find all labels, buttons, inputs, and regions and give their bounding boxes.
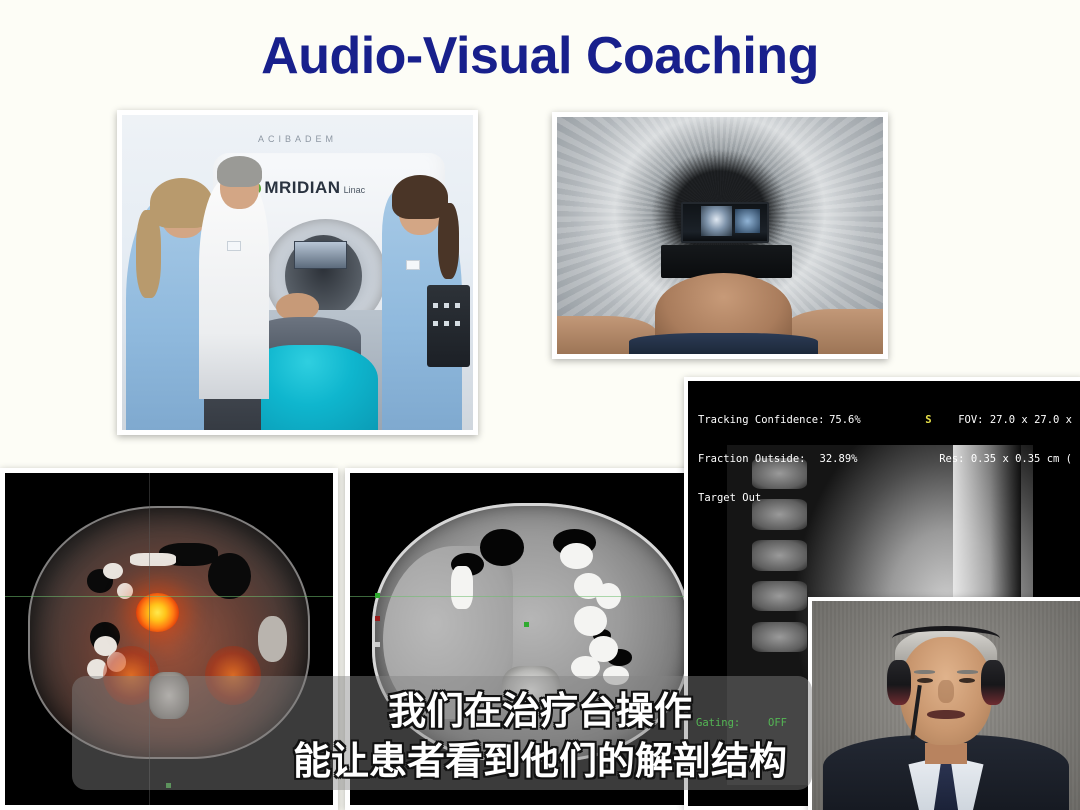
bowel-gas-1	[480, 529, 523, 566]
presentation-slide: Audio-Visual Coaching ACIBADEM MRIDIAN L…	[0, 0, 1080, 810]
nurse-right-id-badge	[406, 260, 420, 270]
speaker-eyebrow-right	[957, 670, 978, 674]
fov-label: FOV:	[958, 414, 983, 426]
tracking-osd-overlay: Tracking Confidence: 75.6% S FOV: 27.0 x…	[688, 381, 1080, 536]
tracking-confidence-label: Tracking Confidence:	[698, 414, 829, 427]
contrast-bowel-6	[130, 553, 176, 566]
contrast-loop-5	[574, 606, 607, 636]
in-bore-display-screen	[681, 202, 769, 242]
contrast-loop-2	[560, 543, 593, 570]
headphones-headband-icon	[892, 626, 999, 651]
hypermetabolic-lesion	[136, 593, 179, 633]
acibadem-wordmark: ACIBADEM	[122, 134, 473, 144]
mridian-brand-logo: MRIDIAN Linac	[248, 178, 365, 198]
res-label: Res:	[939, 453, 964, 465]
subtitle-line-1: 我们在治疗台操作	[0, 686, 1080, 736]
in-bore-patient-view-photo	[552, 112, 888, 359]
left-flank-structure	[258, 616, 288, 662]
fraction-outside-value: 32.89%	[820, 453, 884, 466]
res-value: 0.35 x 0.35 cm (	[971, 453, 1072, 465]
resolution-readout: Res: 0.35 x 0.35 cm (	[939, 453, 1072, 466]
bowel-gas-2	[208, 553, 251, 599]
osd-row-target: Target Out	[698, 492, 1072, 505]
fov-readout: FOV: 27.0 x 27.0 x	[958, 414, 1072, 427]
crosshair-horizontal	[5, 596, 333, 597]
control-console	[427, 285, 469, 367]
screen-mri-image	[701, 206, 731, 236]
nurse-left-ponytail	[136, 210, 161, 298]
fov-value: 27.0 x 27.0 x	[990, 414, 1072, 426]
contrast-bowel-1	[103, 563, 123, 580]
mridian-brand-text: MRIDIAN	[264, 178, 340, 198]
tracking-confidence-value: 75.6%	[829, 414, 899, 427]
linac-in-bore-screen	[294, 241, 347, 269]
patient-gown	[629, 333, 818, 354]
speaker-eyebrow-left	[914, 670, 935, 674]
fraction-outside-label: Fraction Outside:	[698, 453, 820, 466]
subtitle-overlay: 我们在治疗台操作 能让患者看到他们的解剖结构	[0, 686, 1080, 786]
marker-white-left	[375, 642, 380, 647]
marker-green-center	[524, 622, 529, 627]
page-title: Audio-Visual Coaching	[0, 26, 1080, 86]
osd-row-confidence: Tracking Confidence: 75.6% S FOV: 27.0 x…	[698, 414, 1072, 427]
subtitle-line-2: 能让患者看到他们的解剖结构	[0, 736, 1080, 786]
crosshair-horizontal	[350, 596, 712, 597]
osd-row-fraction: Fraction Outside: 32.89% Res: 0.35 x 0.3…	[698, 453, 1072, 466]
marker-red-left	[375, 616, 380, 621]
mr-linac-room-photo: ACIBADEM MRIDIAN Linac	[117, 110, 478, 435]
mridian-model-text: Linac	[344, 185, 366, 195]
marker-green-left	[375, 593, 380, 598]
nurse-right-ponytail	[438, 203, 459, 279]
doctor-hair	[217, 156, 263, 188]
screen-secondary-image	[735, 209, 760, 233]
orientation-marker-superior: S	[899, 414, 959, 427]
contrast-loop-1	[451, 566, 473, 609]
doctor-white-coat	[199, 178, 269, 399]
target-status-text: Target Out	[698, 492, 761, 505]
doctor-id-badge	[227, 241, 241, 251]
